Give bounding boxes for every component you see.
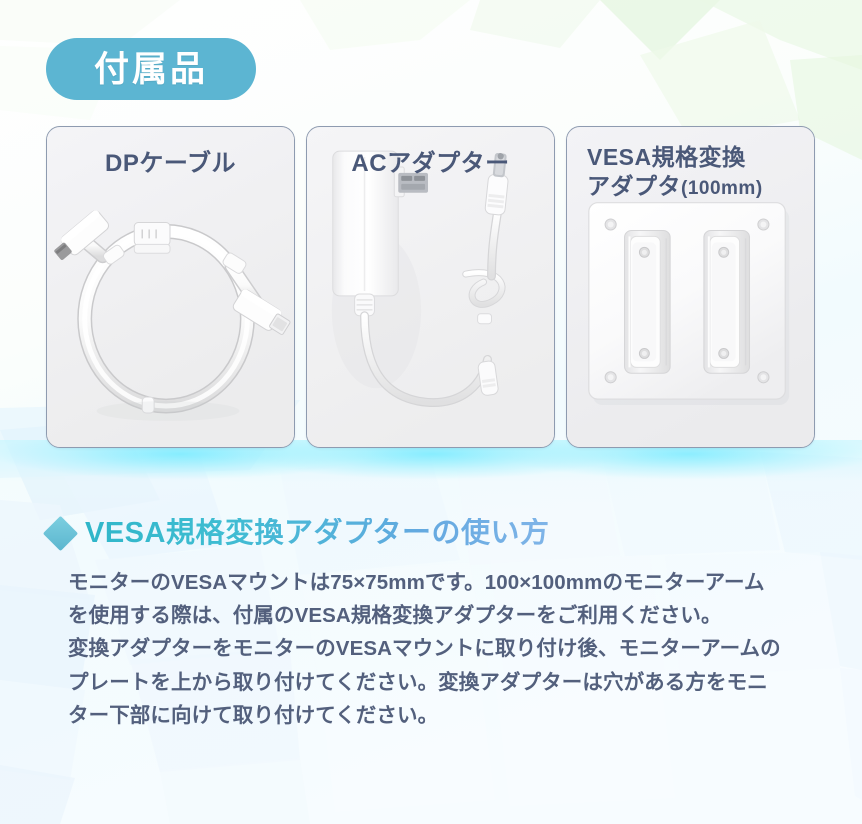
usage-instructions: モニターのVESAマウントは75×75mmです。100×100mmのモニターアー… — [68, 566, 784, 732]
usage-paragraph-2: 変換アダプターをモニターのVESAマウントに取り付け後、モニターアームのプレート… — [68, 632, 784, 732]
accessory-card-vesa-adapter: VESA規格変換 アダプタ(100mm) — [566, 126, 815, 448]
accessory-card-ac-adapter: ACアダプター — [306, 126, 555, 448]
accessory-card-dp-cable: DPケーブル — [46, 126, 295, 448]
usage-section-heading-text: VESA規格変換アダプターの使い方 — [85, 518, 549, 550]
accessory-card-title-suffix: (100mm) — [681, 178, 763, 199]
section-badge-label: 付属品 — [94, 52, 208, 87]
accessory-card-row: DPケーブル — [46, 126, 816, 448]
accessory-card-title: ACアダプター — [307, 149, 554, 179]
usage-section-heading: VESA規格変換アダプターの使い方 — [48, 518, 549, 550]
section-badge: 付属品 — [46, 38, 256, 100]
accessory-card-title: DPケーブル — [47, 149, 294, 179]
accessory-card-title-line1: VESA規格変換 — [587, 143, 804, 172]
accessory-card-title-line2: アダプタ(100mm) — [587, 172, 804, 201]
accessory-card-title: VESA規格変換 アダプタ(100mm) — [567, 143, 814, 201]
usage-paragraph-1: モニターのVESAマウントは75×75mmです。100×100mmのモニターアー… — [68, 566, 784, 632]
diamond-icon — [43, 516, 78, 551]
